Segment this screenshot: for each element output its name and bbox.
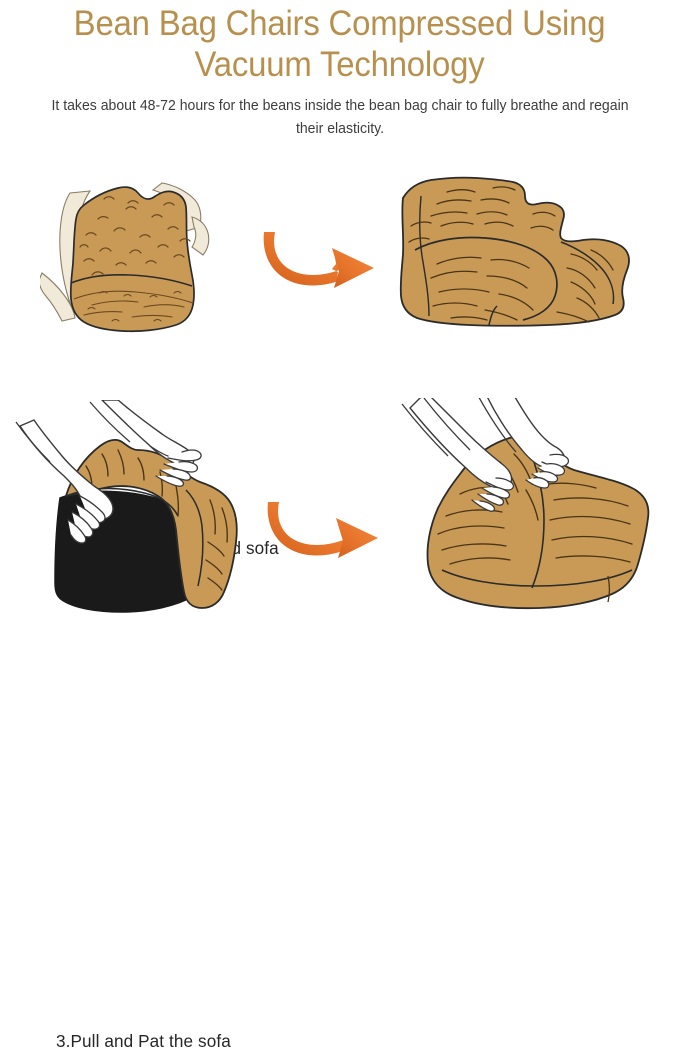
panel-step-1: 1.Open the compressed sofa xyxy=(40,175,270,350)
curved-arrow-step-3-to-4 xyxy=(266,498,381,566)
panel-step-4: 4.Press the sofa firmly xyxy=(398,398,656,622)
page-title: Bean Bag Chairs Compressed Using Vacuum … xyxy=(20,0,658,85)
infographic-root: Bean Bag Chairs Compressed Using Vacuum … xyxy=(0,0,679,657)
wrinkled-bean-bag-sofa-illustration xyxy=(385,170,635,350)
compressed-vacuum-packed-bean-bag-illustration xyxy=(40,175,270,350)
panel-step-3: 3.Pull and Pat the sofa xyxy=(10,400,260,622)
arrow-shaft xyxy=(268,502,350,556)
arrow-shaft-and-head xyxy=(264,232,372,286)
curved-arrow-step-1-to-2 xyxy=(262,228,377,296)
header: Bean Bag Chairs Compressed Using Vacuum … xyxy=(0,0,679,140)
arrow-head-triangle xyxy=(332,248,374,288)
arrow-head-triangle xyxy=(336,518,378,558)
hands-pulling-patting-bean-bag-illustration xyxy=(10,400,260,622)
panel-step-2: 2.Sofa wili be very wrinkled? xyxy=(385,170,635,350)
hands-pressing-bean-bag-illustration xyxy=(398,398,656,622)
caption-step-3: 3.Pull and Pat the sofa xyxy=(56,1031,231,1052)
page-subtitle: It takes about 48-72 hours for the beans… xyxy=(49,95,631,140)
